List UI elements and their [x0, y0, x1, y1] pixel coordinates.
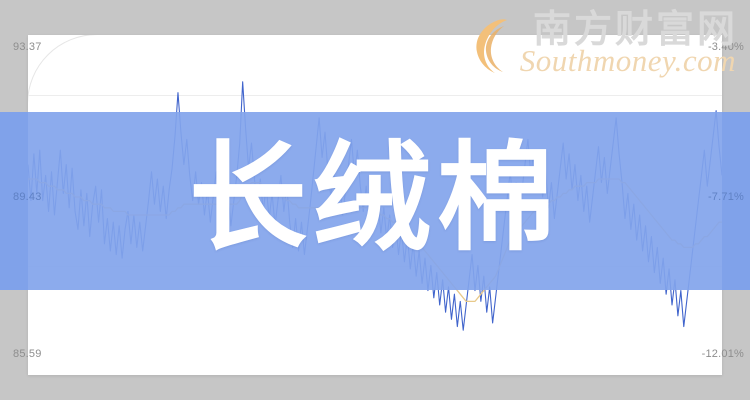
chart-screenshot: 93.37 89.43 85.59 -3.40% -7.71% -12.01% … [0, 0, 750, 400]
pct-axis-label-bottom: -12.01% [702, 348, 744, 360]
y-axis-label-bottom: 85.59 [13, 348, 42, 360]
pct-axis-label-top: -3.40% [708, 41, 744, 53]
watermark-title: 长绒棉 [0, 118, 750, 278]
y-axis-label-top: 93.37 [13, 41, 42, 53]
